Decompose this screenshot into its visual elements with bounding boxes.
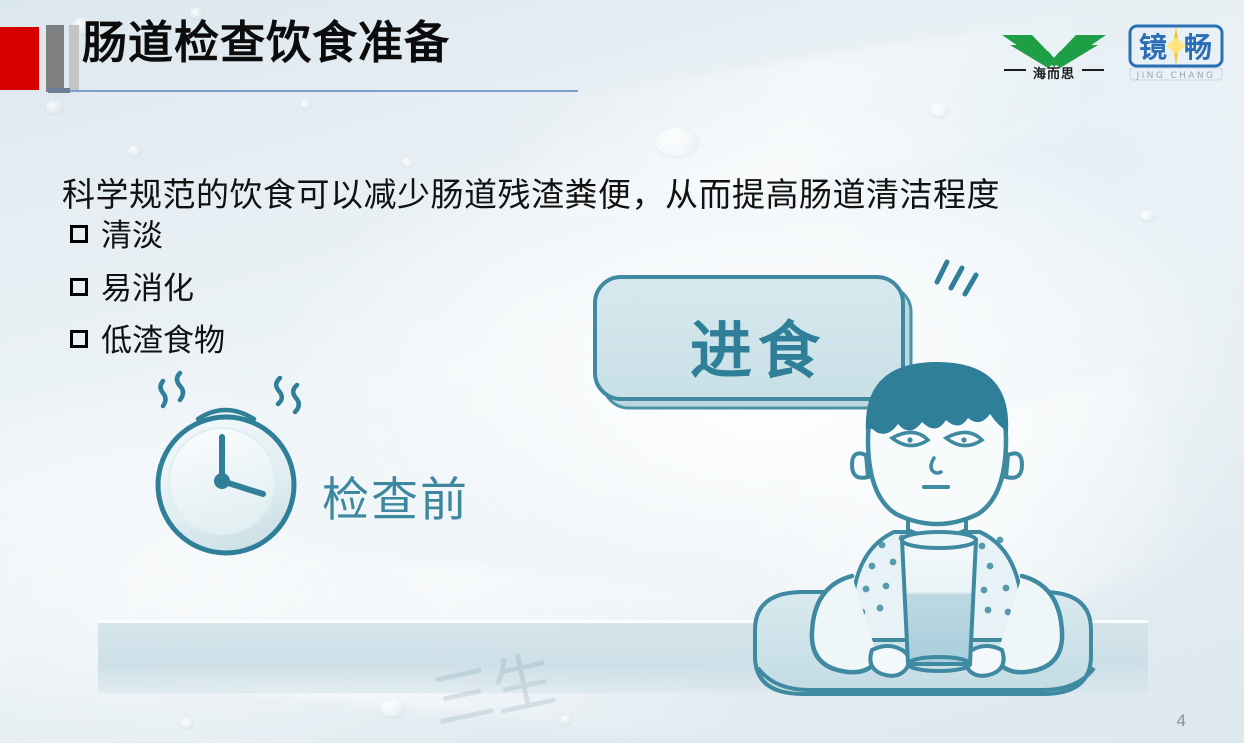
clock-center-pin <box>214 473 230 489</box>
clock-label: 检查前 <box>322 461 469 530</box>
glass-rim <box>902 532 976 548</box>
glass-of-liquid-icon <box>902 540 976 664</box>
page-number: 4 <box>1177 711 1186 731</box>
illustration-layer <box>0 0 1244 743</box>
person-ear-left <box>852 453 868 477</box>
motion-lines-icon <box>937 262 976 294</box>
alarm-clock-icon <box>158 373 299 553</box>
clock-shake-lines-left <box>161 373 184 406</box>
person-ear-right <box>1006 453 1022 477</box>
speech-bubble-label: 进食 <box>690 300 826 390</box>
person-hand-left <box>870 646 909 676</box>
clock-shake-lines-right <box>276 378 299 412</box>
slide-canvas: 肠道检查饮食准备 海而思 <box>0 0 1244 743</box>
